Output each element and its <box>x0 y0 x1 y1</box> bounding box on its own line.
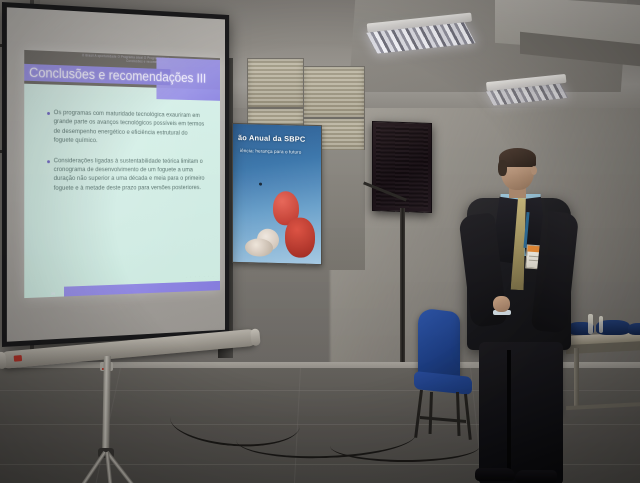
case-brand-label <box>14 355 23 362</box>
water-bottle <box>588 314 593 334</box>
tripod-leg <box>74 451 106 483</box>
trouser-seam <box>507 350 511 470</box>
desk-object <box>628 323 640 335</box>
slide-footer-bar <box>64 281 220 297</box>
hand <box>493 296 510 312</box>
presenter <box>455 150 585 483</box>
window-blinds <box>303 66 365 118</box>
floor-cable <box>330 430 480 462</box>
bullet-dot-icon <box>47 112 50 115</box>
ear <box>531 166 537 175</box>
shoe <box>515 470 557 483</box>
poster-artwork <box>285 217 315 258</box>
hair <box>498 160 507 176</box>
water-bottle <box>599 316 603 333</box>
slide-bullet-text: Os programas com maturidade tecnológica … <box>54 108 207 147</box>
presentation-slide: O Brasil A oportunidade O Programa atual… <box>24 50 220 298</box>
projection-screen-surface: O Brasil A oportunidade O Programa atual… <box>7 7 225 341</box>
shoe <box>475 468 515 481</box>
slide-bullet-item: Considerações ligadas à sustentabilidade… <box>47 156 206 193</box>
trousers <box>479 342 563 483</box>
bullet-dot-icon <box>47 160 50 163</box>
projection-screen-frame: O Brasil A oportunidade O Programa atual… <box>2 2 229 347</box>
slide-page-number: 39 <box>51 291 55 296</box>
slide-body: Os programas com maturidade tecnológica … <box>47 108 206 204</box>
photo-scene: ão Anual da SBPC iência: herança para o … <box>0 0 640 483</box>
slide-bullet-item: Os programas com maturidade tecnológica … <box>47 108 206 147</box>
slide-bullet-text: Considerações ligadas à sustentabilidade… <box>54 156 207 193</box>
slide-footer-marks: · · · · · · · <box>186 275 215 280</box>
tripod-column <box>102 356 111 452</box>
